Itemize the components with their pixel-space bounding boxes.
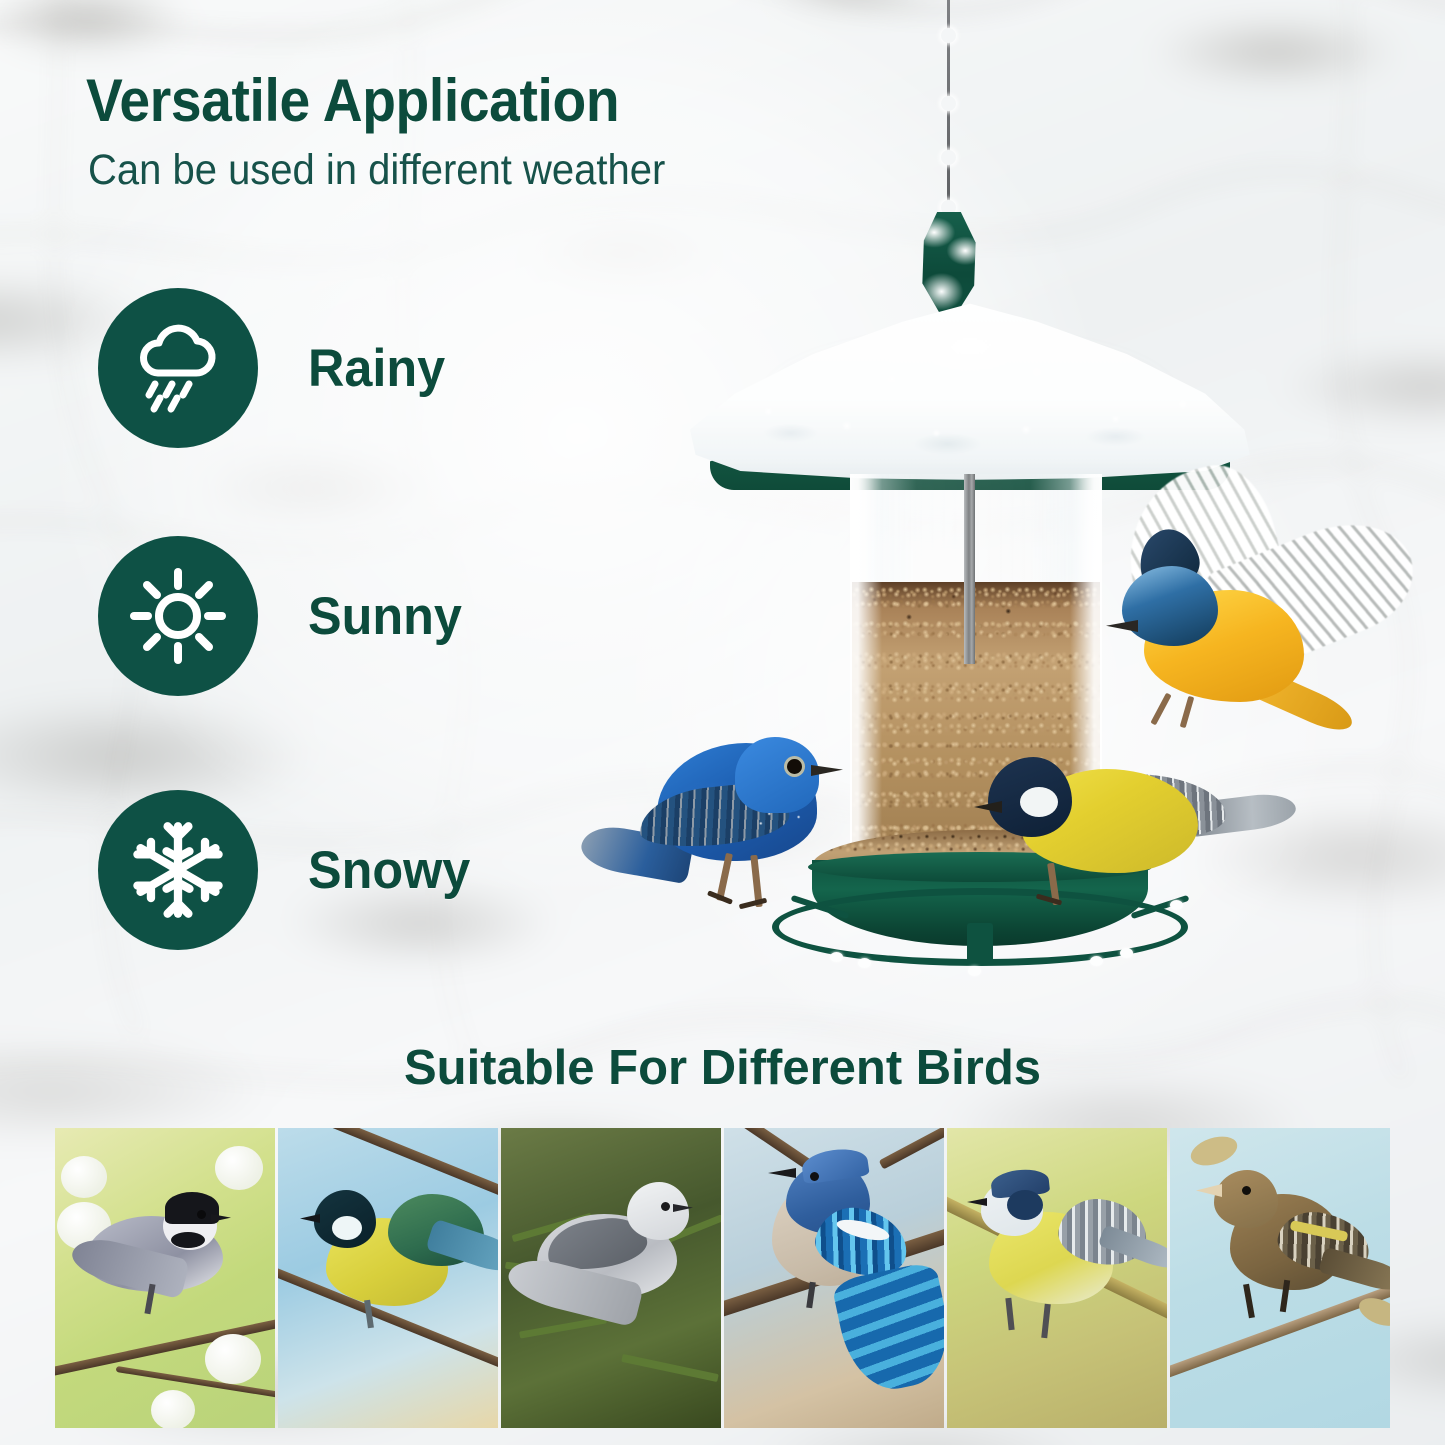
bird-leg [1150, 693, 1171, 726]
feature-sunny: Sunny [98, 536, 470, 696]
bird-eye [787, 759, 802, 774]
page-title: Versatile Application [86, 66, 619, 135]
bird-beak [1106, 620, 1138, 632]
bird-leg [1180, 696, 1195, 728]
bird-head [1214, 1170, 1278, 1228]
bird-eye [197, 1210, 206, 1219]
bird-eye [1242, 1186, 1251, 1195]
bird-cap [165, 1192, 219, 1224]
feature-icon-circle [98, 536, 258, 696]
chain-link [941, 150, 956, 165]
feature-label: Snowy [308, 840, 470, 901]
perch-spoke [967, 923, 993, 963]
section-title-suitable-birds: Suitable For Different Birds [0, 1040, 1445, 1096]
feature-label: Sunny [308, 586, 462, 647]
bird-bib [171, 1232, 205, 1248]
snow-fleck [858, 958, 871, 968]
sun-icon [128, 566, 228, 666]
blossom [151, 1390, 195, 1428]
feature-rainy: Rainy [98, 288, 452, 448]
bird-photo-chickadee [55, 1128, 275, 1428]
bird-claw [739, 898, 767, 910]
blossom [205, 1334, 261, 1384]
center-rod [964, 474, 975, 664]
bird-eye [810, 1172, 819, 1181]
bird-yellow-flying [1100, 470, 1430, 740]
bird-head [735, 737, 819, 813]
bird-head [1122, 566, 1218, 646]
feature-icon-circle [98, 288, 258, 448]
snow-fleck [830, 952, 843, 962]
blossom [61, 1156, 107, 1198]
snow-fleck [1120, 948, 1133, 958]
bird-blue-perched [615, 735, 845, 950]
bird-cheek-patch [1020, 787, 1058, 817]
bird-photo-greenfinch [1170, 1128, 1390, 1428]
bird-photo-strip [55, 1128, 1390, 1428]
snowflake-icon [126, 818, 230, 922]
snow-fleck [968, 966, 981, 976]
rain-cloud-icon [128, 318, 228, 418]
bird-photo-blue-jay [724, 1128, 944, 1428]
bird-cheek [332, 1216, 362, 1240]
bird-great-tit-feeding [948, 745, 1278, 925]
chain-link [941, 28, 956, 43]
chain-link [941, 96, 956, 111]
bird-eye-stripe [1007, 1190, 1043, 1220]
bird-eye [661, 1202, 670, 1211]
feature-icon-circle [98, 790, 258, 950]
snow-fleck [1090, 956, 1103, 966]
feature-label: Rainy [308, 338, 445, 399]
product-photo-bird-feeder [560, 0, 1445, 1020]
bird-photo-great-tit [278, 1128, 498, 1428]
snow-covered-hanger [912, 212, 986, 314]
bird-beak [811, 765, 843, 776]
bird-photo-blue-tit [947, 1128, 1167, 1428]
blossom [215, 1146, 263, 1190]
bird-head [627, 1182, 689, 1240]
bird-photo-gray-jay [501, 1128, 721, 1428]
feature-snowy: Snowy [98, 790, 479, 950]
